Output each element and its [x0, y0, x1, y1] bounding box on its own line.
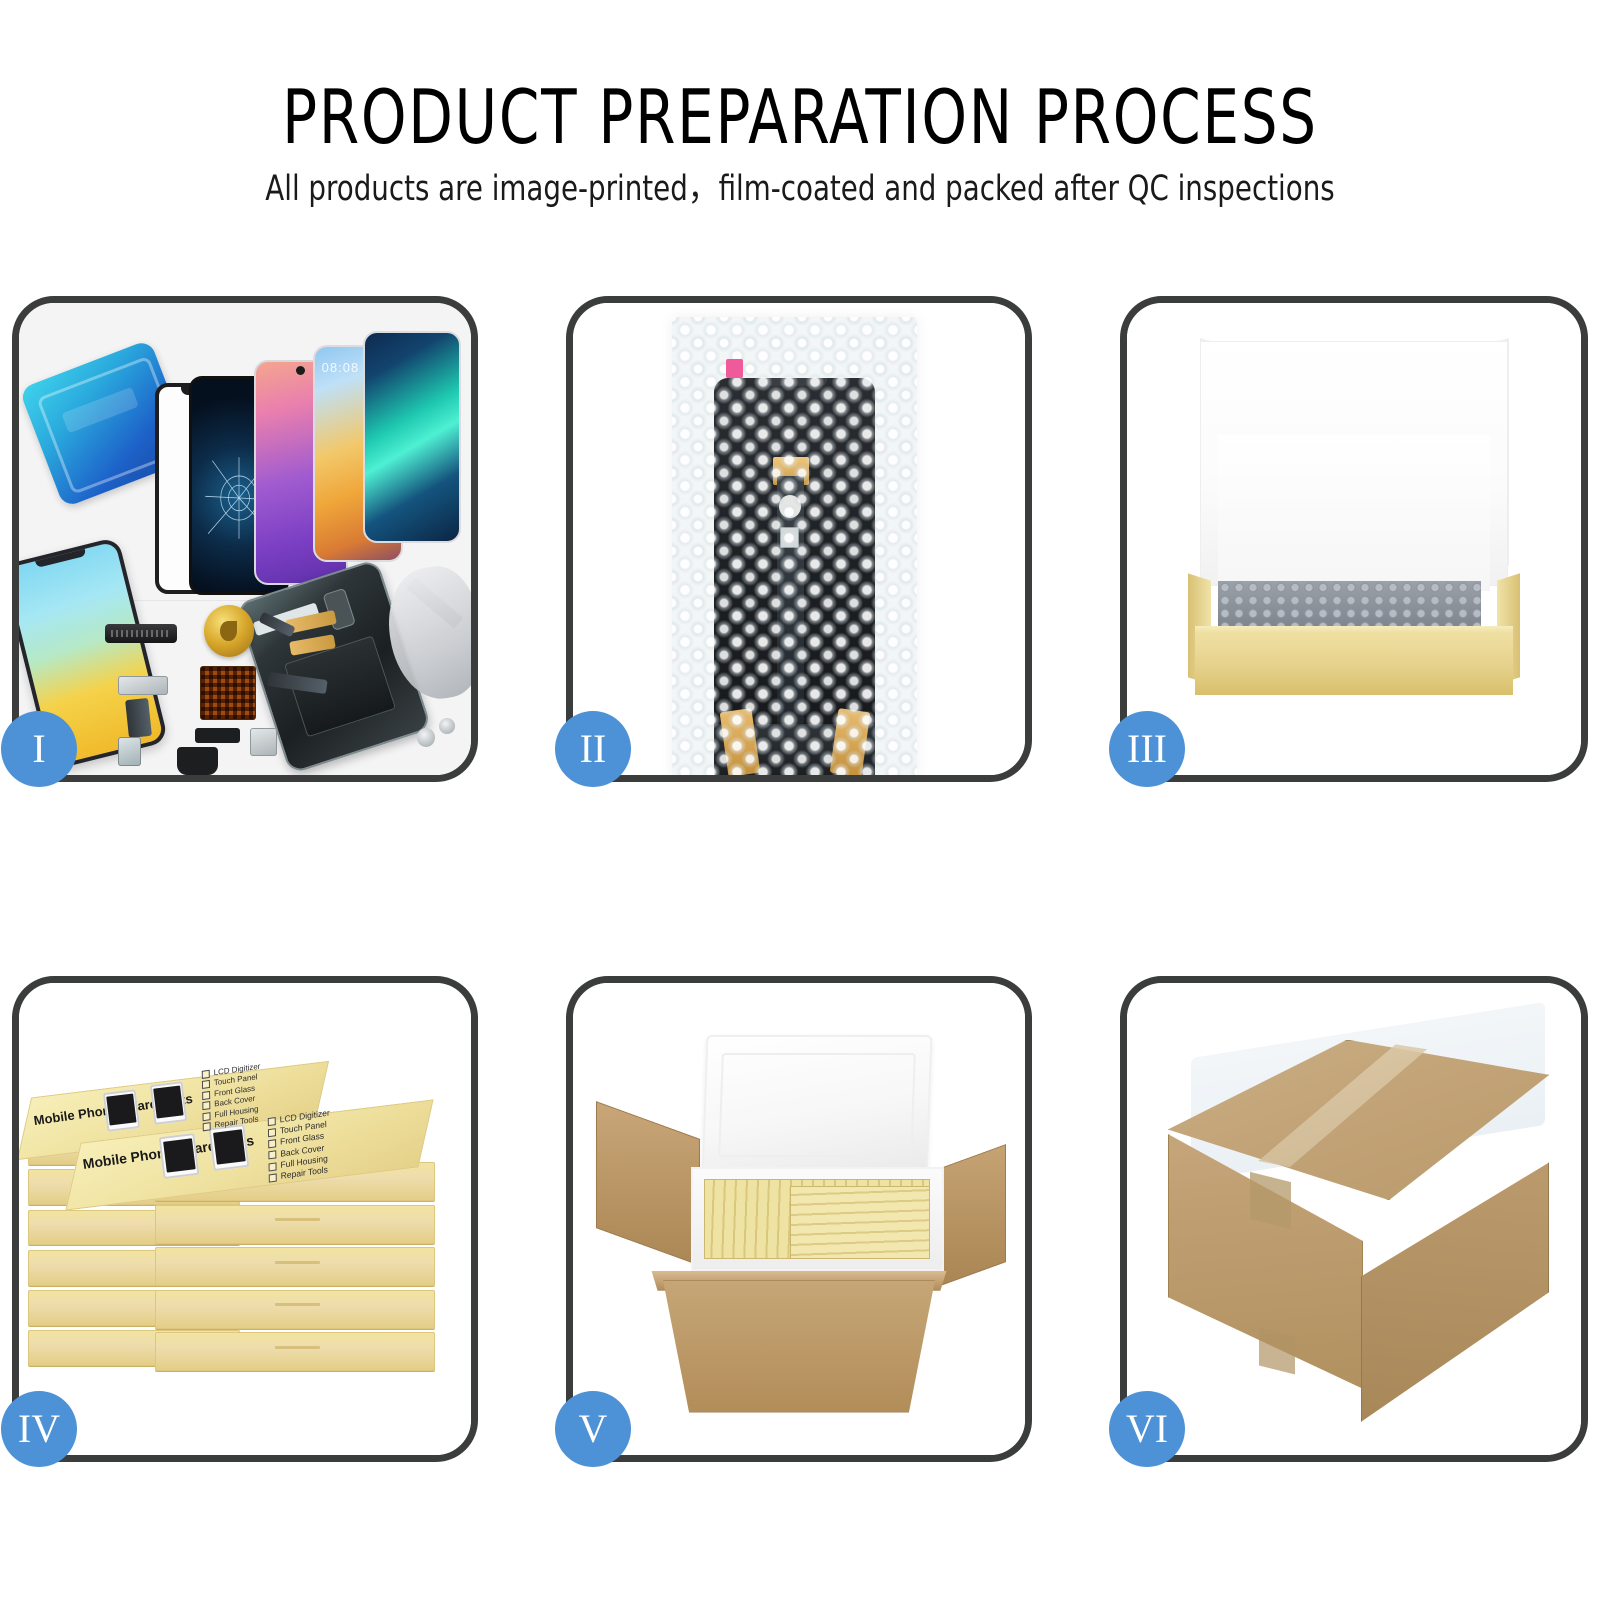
box-notch	[275, 1346, 320, 1349]
bubble-wrap-scene	[573, 303, 1025, 775]
step-6-image	[1127, 983, 1581, 1455]
step-2-image	[573, 303, 1025, 775]
carton-body	[654, 1280, 943, 1412]
box-artwork-screen	[106, 1093, 136, 1125]
phone-parts-scene: 08:08	[19, 303, 471, 775]
step-3-image	[1127, 303, 1581, 775]
bubble-texture	[672, 317, 916, 775]
earpiece-part	[177, 747, 218, 775]
mailer-box-front	[1195, 633, 1513, 694]
yellow-boxes-row-2	[790, 1186, 930, 1259]
screw-part-1	[417, 728, 435, 747]
process-step-panel-1[interactable]: 08:08	[12, 296, 478, 782]
speaker-part	[105, 624, 177, 643]
box-notch	[275, 1303, 320, 1306]
carton-foam-scene	[573, 983, 1025, 1455]
bubble-wrap-bag	[672, 317, 916, 775]
screw-part-2	[439, 718, 454, 734]
step-badge-3: III	[1109, 711, 1185, 787]
step-badge-2: II	[555, 711, 631, 787]
box-artwork-phone-3	[159, 1133, 200, 1180]
box-artwork-phone-2	[150, 1081, 188, 1124]
process-step-panel-5[interactable]: V	[566, 976, 1032, 1462]
process-step-panel-4[interactable]: Mobile Phone Spare Parts Mobile Phone Sp…	[12, 976, 478, 1462]
process-step-panel-3[interactable]: III	[1120, 296, 1588, 782]
ic-chip-part	[200, 666, 256, 720]
stack-box-front-2	[155, 1205, 435, 1244]
box-stack: Mobile Phone Spare Parts Mobile Phone Sp…	[19, 983, 471, 1455]
box-artwork-screen	[163, 1138, 196, 1173]
sim-tray-part	[118, 737, 141, 765]
retail-box-checklist-front: LCD Digitizer Touch Panel Front Glass Ba…	[267, 1108, 330, 1184]
step-5-image	[573, 983, 1025, 1455]
box-notch	[275, 1261, 320, 1264]
step-badge-1: I	[1, 711, 77, 787]
retail-box-stack-scene: Mobile Phone Spare Parts Mobile Phone Sp…	[19, 983, 471, 1455]
box-notch	[275, 1218, 320, 1221]
teal-phone-screen	[363, 331, 462, 543]
step-badge-5: V	[555, 1391, 631, 1467]
vibration-motor-part	[195, 728, 240, 743]
step-badge-4: IV	[1, 1391, 77, 1467]
box-artwork-screen	[154, 1086, 184, 1118]
stack-box-front-4	[155, 1290, 435, 1329]
pink-qc-sticker	[726, 359, 743, 378]
process-step-grid: 08:08	[0, 0, 1600, 1600]
box-artwork-screen	[213, 1130, 246, 1165]
carton-tab-upper	[1250, 1171, 1291, 1228]
phone-clock-label: 08:08	[322, 360, 360, 375]
process-step-panel-2[interactable]: II	[566, 296, 1032, 782]
process-step-panel-6[interactable]: VI	[1120, 976, 1588, 1462]
box-artwork-phone-4	[209, 1124, 250, 1172]
mailer-box-inner-wall	[1218, 435, 1490, 591]
retail-box-checklist-rear: LCD Digitizer Touch Panel Front Glass Ba…	[202, 1062, 262, 1133]
stack-box-front-3	[155, 1247, 435, 1286]
carton-flap-left	[596, 1101, 700, 1266]
mailer-box-scene	[1127, 303, 1581, 775]
step-4-image: Mobile Phone Spare Parts Mobile Phone Sp…	[19, 983, 471, 1455]
metal-bracket-part	[118, 676, 168, 695]
foam-case-lid	[702, 1035, 933, 1177]
shield-can-part	[250, 728, 277, 756]
box-artwork-phone-1	[103, 1089, 140, 1131]
sealed-carton-side	[1361, 1162, 1549, 1422]
step-badge-6: VI	[1109, 1391, 1185, 1467]
power-flex-cable	[126, 698, 152, 738]
step-1-image: 08:08	[19, 303, 471, 775]
carton-tab-lower	[1259, 1328, 1295, 1375]
sealed-carton-scene	[1127, 983, 1581, 1455]
gold-coil-part	[204, 605, 254, 657]
stack-box-front-5	[155, 1332, 435, 1371]
